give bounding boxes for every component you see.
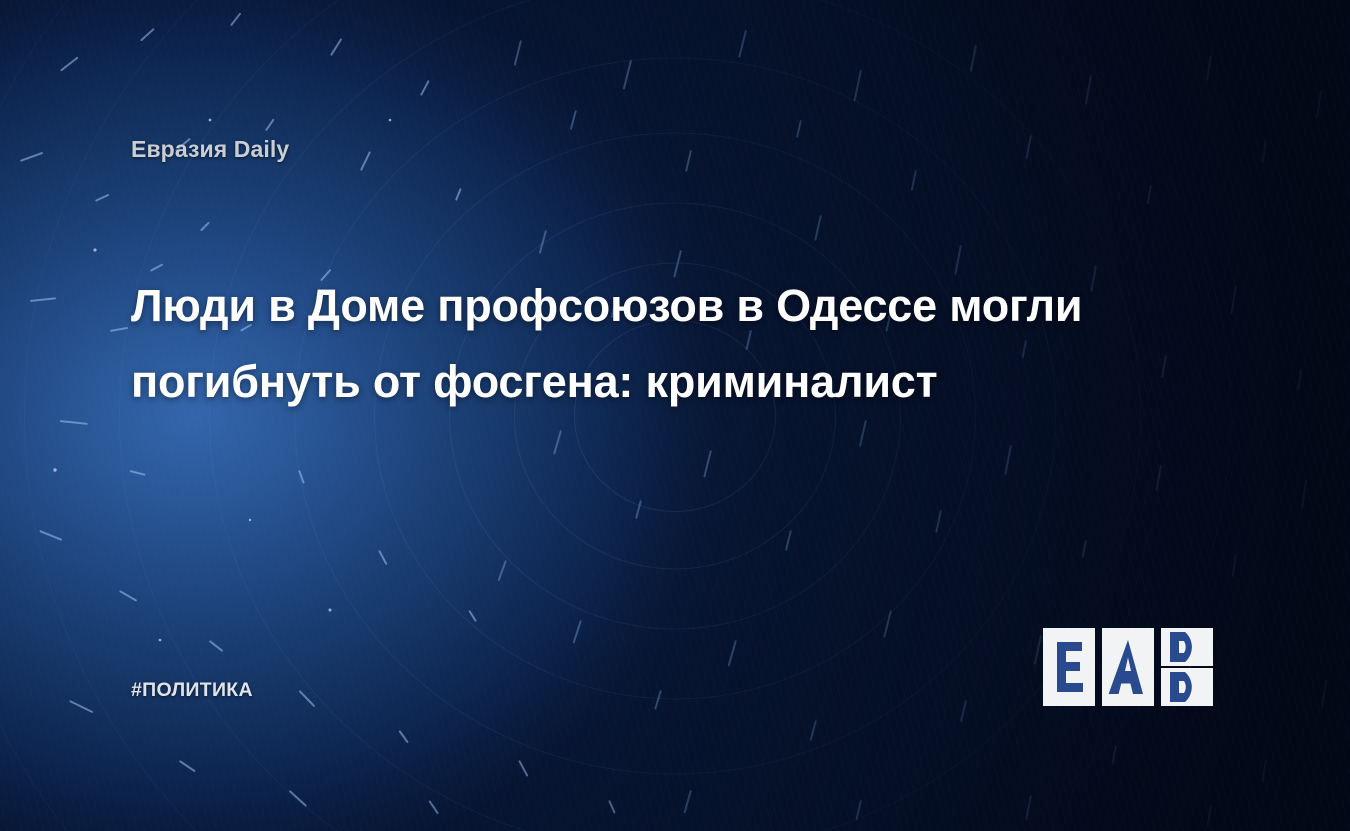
category-tag: #ПОЛИТИКА — [131, 679, 253, 702]
eadaily-logo — [1043, 628, 1221, 706]
page-title: Люди в Доме профсоюзов в Одессе могли по… — [131, 268, 1116, 420]
news-share-card: Евразия Daily Люди в Доме профсоюзов в О… — [0, 0, 1350, 831]
brand-name: Евразия Daily — [131, 136, 289, 163]
